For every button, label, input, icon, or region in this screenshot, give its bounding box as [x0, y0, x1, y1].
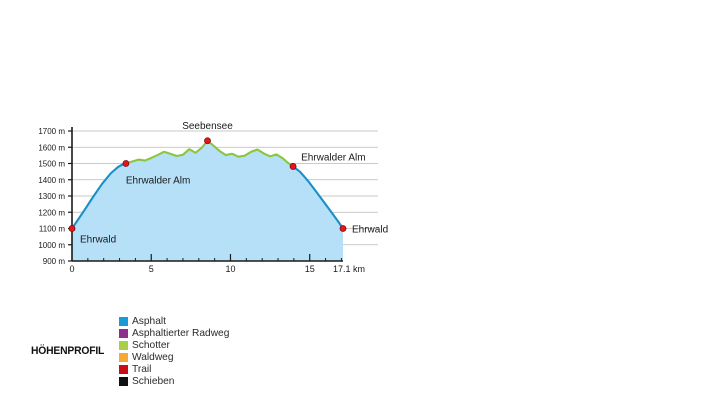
- y-tick-label: 1300 m: [38, 192, 65, 201]
- y-tick-label: 1200 m: [38, 208, 65, 217]
- waypoint-label: Ehrwald: [352, 225, 388, 236]
- legend-item-waldweg: Waldweg: [119, 351, 232, 363]
- y-axis-ticks: 900 m1000 m1100 m1200 m1300 m1400 m1500 …: [38, 127, 72, 266]
- legend-item-schieben: Schieben: [119, 375, 232, 387]
- y-tick-label: 1500 m: [38, 160, 65, 169]
- legend: HÖHENPROFIL AsphaltAsphaltierter RadwegS…: [31, 343, 241, 359]
- waypoint-marker: [205, 138, 211, 144]
- legend-label: Trail: [132, 363, 151, 375]
- legend-swatch-icon: [119, 365, 128, 374]
- legend-label: Asphalt: [132, 315, 166, 327]
- waypoint-label: Ehrwald: [80, 235, 116, 246]
- legend-swatch-icon: [119, 377, 128, 386]
- x-tick-label: 5: [149, 264, 154, 274]
- legend-items: AsphaltAsphaltierter RadwegSchotterWaldw…: [119, 315, 241, 387]
- waypoint-marker: [123, 161, 129, 167]
- y-tick-label: 1100 m: [39, 225, 65, 234]
- y-tick-label: 1700 m: [38, 127, 65, 136]
- elevation-profile-plot: 900 m1000 m1100 m1200 m1300 m1400 m1500 …: [0, 0, 712, 401]
- x-tick-label: 15: [305, 264, 315, 274]
- legend-swatch-icon: [119, 353, 128, 362]
- elevation-profile-chart: 900 m1000 m1100 m1200 m1300 m1400 m1500 …: [0, 0, 712, 401]
- legend-swatch-icon: [119, 329, 128, 338]
- y-tick-label: 1000 m: [38, 241, 65, 250]
- x-axis-end-label: 17.1 km: [333, 264, 365, 274]
- legend-swatch-icon: [119, 317, 128, 326]
- y-tick-label: 1400 m: [38, 176, 65, 185]
- waypoint-marker: [290, 163, 296, 169]
- waypoint-label: Ehrwalder Alm: [301, 152, 365, 163]
- legend-label: Asphaltierter Radweg: [132, 327, 229, 339]
- legend-item-asphalt: Asphalt: [119, 315, 232, 327]
- legend-swatch-icon: [119, 341, 128, 350]
- legend-label: Schotter: [132, 339, 170, 351]
- waypoint-marker: [69, 226, 75, 232]
- waypoint-label: Seebensee: [182, 121, 233, 132]
- legend-item-schotter: Schotter: [119, 339, 232, 351]
- waypoint-label: Ehrwalder Alm: [126, 176, 190, 187]
- waypoint-marker: [340, 226, 346, 232]
- y-tick-label: 1600 m: [38, 143, 65, 152]
- legend-label: Schieben: [132, 375, 174, 387]
- legend-label: Waldweg: [132, 351, 174, 363]
- legend-item-asphaltierter-radweg: Asphaltierter Radweg: [119, 327, 232, 339]
- y-tick-label: 900 m: [43, 257, 66, 266]
- legend-title: HÖHENPROFIL: [31, 345, 104, 357]
- x-tick-label: 10: [225, 264, 235, 274]
- legend-item-trail: Trail: [119, 363, 232, 375]
- x-tick-label: 0: [69, 264, 74, 274]
